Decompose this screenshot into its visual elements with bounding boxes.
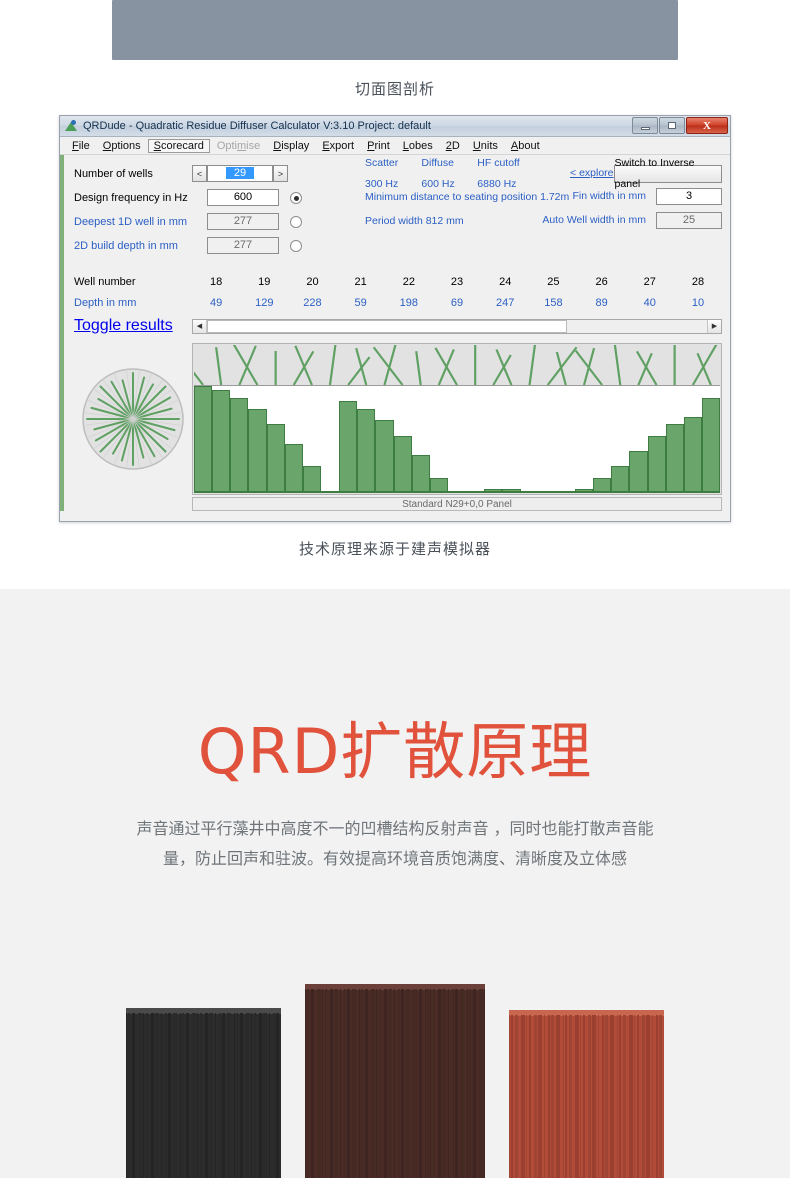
panel-slat — [415, 989, 417, 1178]
depth-bar — [666, 424, 684, 493]
table-cell: 18 — [192, 276, 240, 288]
seating-distance-text: Minimum distance to seating position 1.7… — [365, 187, 569, 208]
panel-slat — [617, 1015, 618, 1178]
cross-section-image — [112, 0, 678, 60]
panel-slat — [126, 1013, 127, 1178]
panel-slat — [192, 1013, 196, 1178]
diffuser-panel-plot[interactable] — [192, 343, 722, 495]
product-photo-brown — [305, 984, 485, 1178]
depth-bar — [484, 489, 502, 493]
panel-slat — [656, 1015, 658, 1178]
switch-to-inverse-panel-button[interactable]: Switch to Inverse panel — [614, 165, 722, 183]
well-depth-bars — [194, 385, 720, 493]
label-2d-build-depth: 2D build depth in mm — [74, 240, 192, 252]
panel-slat — [352, 989, 356, 1178]
panel-slat — [419, 989, 422, 1178]
page-root: 切面图剖析 QRDude - Quadratic Residue Diffuse… — [0, 0, 790, 1178]
panel-slat — [222, 1013, 225, 1178]
table-cell: 198 — [385, 297, 433, 309]
table-cell: 28 — [674, 276, 722, 288]
toggle-results-link[interactable]: Toggle results — [74, 317, 173, 335]
depth-bar — [394, 436, 412, 493]
panel-slat — [344, 989, 346, 1178]
panel-slat — [551, 1015, 554, 1178]
panel-slat — [151, 1013, 154, 1178]
product-photo-black — [126, 1008, 281, 1178]
depth-bar — [702, 398, 720, 493]
panel-slats — [305, 989, 485, 1178]
panel-slat — [180, 1013, 181, 1178]
panel-slat — [619, 1015, 621, 1178]
panel-slat — [205, 1013, 208, 1178]
period-width-line: Period width 812 mm Auto Well width in m… — [365, 211, 722, 232]
stepper-decrement-button[interactable]: < — [192, 165, 207, 182]
explore-link[interactable]: < explore — [570, 163, 614, 184]
table-cell: 69 — [433, 297, 481, 309]
depth-bar — [212, 390, 230, 493]
app-content: Number of wells < 29 > Design frequency … — [64, 155, 730, 511]
panel-slat — [146, 1013, 148, 1178]
panel-slat — [629, 1015, 633, 1178]
panel-slat — [401, 989, 404, 1178]
panel-slats — [509, 1015, 664, 1178]
product-photo-red — [509, 1010, 664, 1178]
panel-slat — [182, 1013, 184, 1178]
close-button[interactable]: X — [686, 117, 728, 134]
depth-bar — [339, 401, 357, 493]
panel-slat — [467, 989, 468, 1178]
panel-slat — [276, 1013, 279, 1178]
app-logo-icon — [65, 120, 78, 133]
menu-item-2d[interactable]: 2D — [440, 139, 466, 153]
field-row-number-of-wells: Number of wells < 29 > — [74, 163, 349, 184]
panel-slat — [330, 989, 333, 1178]
table-cell: 25 — [529, 276, 577, 288]
panel-slat — [138, 1013, 142, 1178]
depth-bar — [502, 489, 520, 493]
panel-slat — [484, 989, 485, 1178]
table-cell: 27 — [626, 276, 674, 288]
panel-slat — [448, 989, 449, 1178]
panel-slat — [200, 1013, 202, 1178]
menu-item-units[interactable]: Units — [467, 139, 504, 153]
panel-slat — [575, 1015, 579, 1178]
panel-slat — [197, 1013, 198, 1178]
panel-slat — [605, 1015, 608, 1178]
panel-slat — [384, 989, 387, 1178]
depth-bar — [539, 491, 557, 493]
radio-deepest-1d-well[interactable] — [290, 216, 302, 228]
menu-item-export[interactable]: Export — [316, 139, 360, 153]
panel-slat — [334, 989, 338, 1178]
depth-bar — [412, 455, 430, 493]
panel-slat — [398, 989, 400, 1178]
depth-bar — [684, 417, 702, 493]
panel-slat — [128, 1013, 130, 1178]
panel-slat — [322, 989, 323, 1178]
label-auto-well-width: Auto Well width in mm — [542, 210, 646, 231]
lobe-rays-zone — [194, 345, 720, 385]
panel-slat — [548, 1015, 550, 1178]
scrollbar-track[interactable] — [207, 320, 707, 333]
panel-slat — [259, 1013, 262, 1178]
depth-bar — [521, 491, 539, 493]
form-right-column: Scatter 300 Hz Diffuse 600 Hz HF cutoff … — [349, 163, 722, 259]
table-cell: 24 — [481, 276, 529, 288]
depth-cells: 49 129 228 59 198 69 247 158 89 40 10 — [192, 297, 722, 309]
panel-slat — [317, 989, 321, 1178]
polar-lobe-plot[interactable] — [74, 343, 192, 473]
panel-slat — [529, 1015, 531, 1178]
panel-slat — [637, 1015, 639, 1178]
period-width-text: Period width 812 mm — [365, 211, 464, 232]
panel-slat — [556, 1015, 560, 1178]
design-frequency-input[interactable]: 600 — [207, 189, 279, 206]
table-cell: 49 — [192, 297, 240, 309]
panel-slat — [215, 1013, 216, 1178]
panel-slat — [430, 989, 431, 1178]
panel-slat — [209, 1013, 213, 1178]
depth-bar — [611, 466, 629, 493]
panel-slat — [583, 1015, 585, 1178]
label-design-frequency: Design frequency in Hz — [74, 192, 192, 204]
product-photos-row — [0, 984, 790, 1178]
panel-slat — [311, 989, 314, 1178]
label-depth-in-mm: Depth in mm — [74, 297, 192, 309]
depth-bar — [230, 398, 248, 493]
app-body: Number of wells < 29 > Design frequency … — [60, 155, 730, 521]
panel-slat — [406, 989, 410, 1178]
panel-slat — [592, 1015, 596, 1178]
panel-slat — [623, 1015, 626, 1178]
panel-slat — [155, 1013, 159, 1178]
label-well-number: Well number — [74, 276, 192, 288]
panel-slat — [652, 1015, 653, 1178]
menu-item-optimise: Optimise — [211, 139, 266, 153]
table-row-well-number: Well number 18 19 20 21 22 23 24 25 26 — [74, 271, 722, 292]
qrd-description-line-1: 声音通过平行藻井中高度不一的凹槽结构反射声音 ，同时也能打散声音能 — [136, 819, 653, 838]
depth-bar — [430, 478, 448, 493]
panel-slat — [361, 989, 363, 1178]
qrdude-app-window: QRDude - Quadratic Residue Diffuser Calc… — [59, 115, 731, 522]
panel-slat — [544, 1015, 545, 1178]
panel-slat — [305, 989, 306, 1178]
window-controls: X — [631, 117, 728, 134]
panel-slat — [469, 989, 471, 1178]
number-of-wells-value: 29 — [226, 167, 254, 179]
auto-well-width-input[interactable]: 25 — [656, 212, 722, 229]
field-row-2d-build-depth: 2D build depth in mm 277 — [74, 235, 349, 256]
panel-slat — [526, 1015, 527, 1178]
qrd-heading: QRD扩散原理 — [0, 719, 790, 786]
deepest-1d-well-input[interactable]: 277 — [207, 213, 279, 230]
depth-bar — [248, 409, 266, 493]
caption-cross-section: 切面图剖析 — [0, 60, 790, 115]
label-fin-width: Fin width in mm — [572, 186, 646, 207]
table-cell: 23 — [433, 276, 481, 288]
panel-slat — [565, 1015, 567, 1178]
field-row-deepest-1d-well: Deepest 1D well in mm 277 — [74, 211, 349, 232]
table-cell: 247 — [481, 297, 529, 309]
panel-slat — [269, 1013, 270, 1178]
panel-slat — [234, 1013, 235, 1178]
horizontal-scrollbar[interactable]: ◀ ▶ — [192, 319, 722, 334]
panel-slat — [602, 1015, 604, 1178]
table-cell: 89 — [578, 297, 626, 309]
panel-slat — [394, 989, 395, 1178]
table-row-depth: Depth in mm 49 129 228 59 198 69 247 158 — [74, 292, 722, 313]
panel-slat — [425, 989, 429, 1178]
table-cell: 20 — [288, 276, 336, 288]
panel-slat — [254, 1013, 256, 1178]
panel-slat — [143, 1013, 144, 1178]
label-deepest-1d-well: Deepest 1D well in mm — [74, 216, 192, 228]
panel-slat — [580, 1015, 581, 1178]
panel-slat — [455, 989, 458, 1178]
number-of-wells-stepper[interactable]: < 29 > — [192, 165, 288, 182]
panel-slat — [376, 989, 377, 1178]
statusbar-row: Standard N29+0,0 Panel — [74, 495, 722, 511]
panel-slat — [511, 1015, 513, 1178]
panel-slat — [307, 989, 309, 1178]
lobe-rays-svg — [194, 345, 720, 385]
menu-item-about[interactable]: About — [505, 139, 546, 153]
depth-bar — [375, 420, 393, 493]
polar-plot-svg — [79, 365, 187, 473]
frequency-info-line: Scatter 300 Hz Diffuse 600 Hz HF cutoff … — [365, 163, 722, 184]
depth-bar — [629, 451, 647, 493]
qrd-principle-section: QRD扩散原理 声音通过平行藻井中高度不一的凹槽结构反射声音 ，同时也能打散声音… — [0, 589, 790, 1178]
form-left-column: Number of wells < 29 > Design frequency … — [74, 163, 349, 259]
menu-item-print[interactable]: Print — [361, 139, 396, 153]
panel-slat — [460, 989, 464, 1178]
table-cell: 129 — [240, 297, 288, 309]
number-of-wells-input[interactable]: 29 — [207, 165, 273, 182]
panel-slat — [132, 1013, 135, 1178]
panel-slat — [515, 1015, 518, 1178]
caption-technology-origin: 技术原理来源于建声模拟器 — [0, 522, 790, 565]
radio-design-frequency[interactable] — [290, 192, 302, 204]
scroll-left-arrow-icon[interactable]: ◀ — [193, 320, 207, 333]
qrd-description-line-2: 量，防止回声和驻波。有效提高环境音质饱满度、清晰度及立体感 — [163, 849, 627, 868]
panel-slat — [246, 1013, 250, 1178]
table-cell: 40 — [626, 297, 674, 309]
menu-item-scorecard[interactable]: Scorecard — [148, 139, 210, 153]
panel-slat — [642, 1015, 645, 1178]
panel-slat — [479, 989, 483, 1178]
panel-slat — [173, 1013, 177, 1178]
panel-slat — [165, 1013, 167, 1178]
depth-bar — [285, 444, 303, 493]
table-cell: 19 — [240, 276, 288, 288]
depth-bar — [593, 478, 611, 493]
panel-slat — [347, 989, 350, 1178]
panel-slat — [438, 989, 441, 1178]
scroll-right-arrow-icon[interactable]: ▶ — [707, 320, 721, 333]
table-cell: 22 — [385, 276, 433, 288]
panel-slat — [521, 1015, 525, 1178]
panel-slat — [388, 989, 392, 1178]
menu-item-lobes[interactable]: Lobes — [397, 139, 439, 153]
panel-slat — [236, 1013, 238, 1178]
panel-slat — [610, 1015, 614, 1178]
depth-bar — [466, 491, 484, 493]
panel-slat — [359, 989, 360, 1178]
panel-slat — [371, 989, 375, 1178]
table-cell: 158 — [529, 297, 577, 309]
panel-slat — [413, 989, 414, 1178]
graph-area — [74, 343, 722, 495]
stepper-increment-button[interactable]: > — [273, 165, 288, 182]
panel-status-text: Standard N29+0,0 Panel — [192, 497, 722, 511]
panel-slat — [659, 1015, 662, 1178]
panel-slat — [473, 989, 476, 1178]
depth-bar — [575, 489, 593, 493]
scrollbar-thumb[interactable] — [207, 320, 567, 333]
depth-bar — [557, 491, 575, 493]
depth-bar — [267, 424, 285, 493]
panel-slats — [126, 1013, 281, 1178]
panel-slat — [219, 1013, 221, 1178]
depth-bar — [303, 466, 321, 493]
window-title: QRDude - Quadratic Residue Diffuser Calc… — [83, 120, 431, 132]
label-number-of-wells: Number of wells — [74, 168, 192, 180]
panel-slat — [509, 1015, 510, 1178]
depth-bar — [648, 436, 666, 493]
parameters-form: Number of wells < 29 > Design frequency … — [74, 163, 722, 259]
qrd-description: 声音通过平行藻井中高度不一的凹槽结构反射声音 ，同时也能打散声音能 量，防止回声… — [100, 814, 690, 874]
seating-distance-line: Minimum distance to seating position 1.7… — [365, 187, 722, 208]
menu-item-file[interactable]: File — [66, 139, 96, 153]
panel-slat — [365, 989, 368, 1178]
panel-slat — [227, 1013, 231, 1178]
window-titlebar[interactable]: QRDude - Quadratic Residue Diffuser Calc… — [60, 116, 730, 137]
results-table: Well number 18 19 20 21 22 23 24 25 26 — [74, 271, 722, 335]
depth-bar — [357, 409, 375, 493]
panel-slat — [634, 1015, 635, 1178]
fin-width-input[interactable]: 3 — [656, 188, 722, 205]
panel-slat — [646, 1015, 650, 1178]
panel-slat — [569, 1015, 572, 1178]
panel-slat — [433, 989, 435, 1178]
panel-slat — [161, 1013, 162, 1178]
panel-slat — [340, 989, 341, 1178]
field-row-design-frequency: Design frequency in Hz 600 — [74, 187, 349, 208]
2d-build-depth-input[interactable]: 277 — [207, 237, 279, 254]
well-number-cells: 18 19 20 21 22 23 24 25 26 27 28 — [192, 276, 722, 288]
top-section: 切面图剖析 QRDude - Quadratic Residue Diffuse… — [0, 0, 790, 577]
panel-slat — [452, 989, 454, 1178]
panel-slat — [263, 1013, 267, 1178]
depth-bar — [321, 491, 339, 493]
panel-slat — [168, 1013, 171, 1178]
table-cell: 21 — [337, 276, 385, 288]
panel-slat — [240, 1013, 243, 1178]
depth-bar — [194, 386, 212, 493]
depth-bar — [448, 491, 466, 493]
table-cell: 228 — [288, 297, 336, 309]
panel-slat — [251, 1013, 252, 1178]
panel-slat — [325, 989, 327, 1178]
panel-slat — [538, 1015, 542, 1178]
menu-item-options[interactable]: Options — [97, 139, 147, 153]
panel-slat — [442, 989, 446, 1178]
table-cell: 59 — [337, 297, 385, 309]
toggle-and-scrollbar-row: Toggle results ◀ ▶ — [74, 317, 722, 335]
radio-2d-build-depth[interactable] — [290, 240, 302, 252]
table-cell: 10 — [674, 297, 722, 309]
table-cell: 26 — [578, 276, 626, 288]
panel-slat — [534, 1015, 537, 1178]
panel-slat — [598, 1015, 599, 1178]
menu-item-display[interactable]: Display — [267, 139, 315, 153]
panel-slat — [563, 1015, 564, 1178]
panel-slat — [379, 989, 381, 1178]
panel-slat — [273, 1013, 275, 1178]
panel-slat — [588, 1015, 591, 1178]
panel-slat — [186, 1013, 189, 1178]
minimize-button[interactable] — [632, 117, 658, 134]
maximize-button[interactable] — [659, 117, 685, 134]
